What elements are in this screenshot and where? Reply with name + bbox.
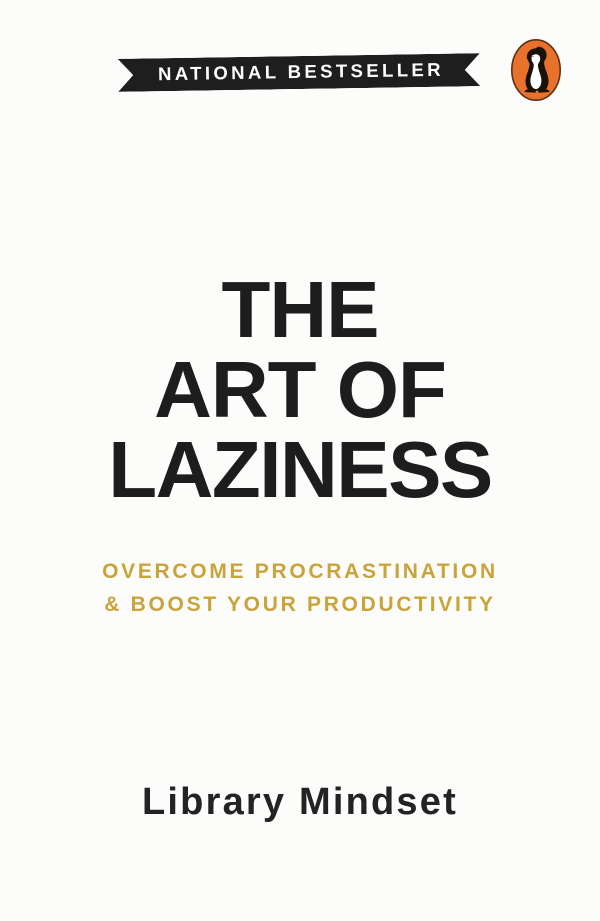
national-bestseller-label: NATIONAL BESTSELLER bbox=[118, 53, 480, 92]
subtitle-line-1: OVERCOME PROCRASTINATION bbox=[0, 556, 600, 589]
cover-top-row: NATIONAL BESTSELLER bbox=[0, 34, 600, 114]
subtitle-line-2: & BOOST YOUR PRODUCTIVITY bbox=[0, 589, 600, 622]
national-bestseller-banner: NATIONAL BESTSELLER bbox=[118, 53, 480, 92]
title-line-3: LAZINESS bbox=[0, 432, 600, 508]
penguin-books-logo-icon bbox=[510, 38, 562, 102]
book-title: THE ART OF LAZINESS bbox=[0, 272, 600, 508]
book-cover: NATIONAL BESTSELLER THE ART OF bbox=[0, 0, 600, 921]
title-line-2: ART OF bbox=[0, 352, 600, 428]
book-author: Library Mindset bbox=[0, 782, 600, 824]
author-name: Library Mindset bbox=[142, 782, 458, 824]
title-line-1: THE bbox=[0, 272, 600, 348]
book-subtitle: OVERCOME PROCRASTINATION & BOOST YOUR PR… bbox=[0, 556, 600, 621]
